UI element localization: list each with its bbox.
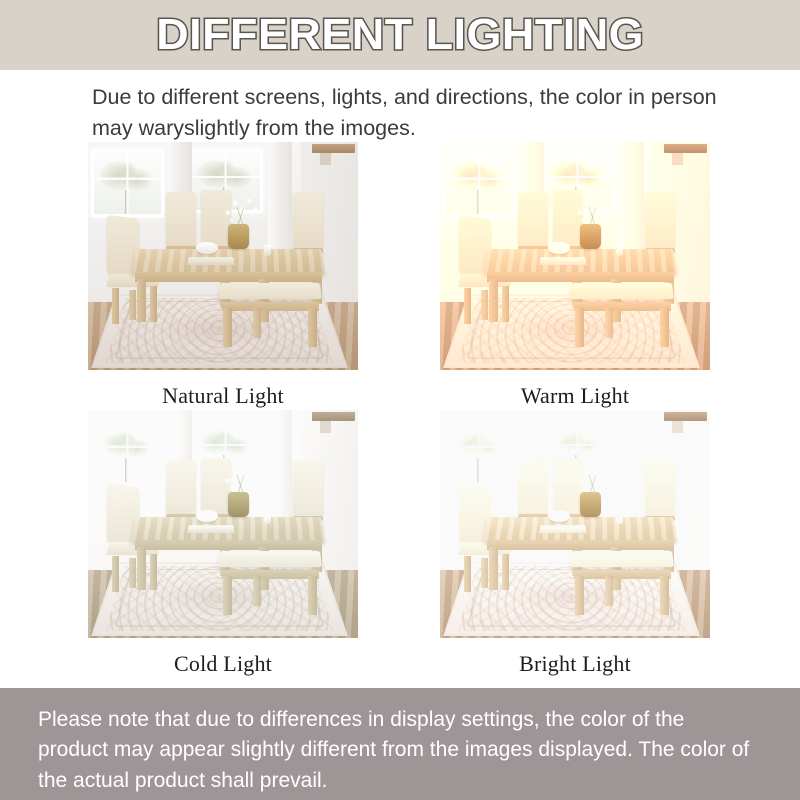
page-title: DIFFERENT LIGHTING [156,13,644,57]
header-band: DIFFERENT LIGHTING [0,0,800,70]
dining-bench-seat [218,551,322,567]
window-mullions [94,420,161,482]
wall-shelf [664,412,707,421]
plate-stack [548,510,570,521]
dining-bench-seat [218,283,322,299]
dining-bench-apron [574,570,671,579]
dining-room-scene [88,142,358,370]
window-left [443,149,516,217]
chair-leg [129,290,136,320]
drinking-glass [616,245,623,256]
window-left [91,149,164,217]
bench-leg [575,308,584,347]
plate-stack [196,242,218,253]
dining-room-scene [440,410,710,638]
dining-bench-seat [570,283,674,299]
product-photo-cold [88,410,358,638]
subtitle-text: Due to different screens, lights, and di… [92,82,722,143]
chair-leg [112,288,119,324]
vase [580,492,600,517]
product-photo-natural [88,142,358,370]
lighting-panel-warm: Warm Light [440,142,710,409]
plate-stack [196,510,218,521]
serving-board [187,525,234,533]
drinking-glass [616,513,623,524]
vase [580,224,600,249]
dining-bench-apron [222,302,319,311]
lighting-panel-bright: Bright Light [440,410,710,677]
panel-caption: Natural Light [88,370,358,409]
bench-leg [308,308,317,347]
window-mullions [94,152,161,214]
wall-shelf [312,412,355,421]
serving-board [539,525,586,533]
chair-leg [112,556,119,592]
disclaimer-banner: Please note that due to differences in d… [0,688,800,800]
bench-leg [575,576,584,615]
panel-caption: Warm Light [440,370,710,409]
bench-leg [308,576,317,615]
chair-leg [129,558,136,588]
bench-leg [253,308,262,338]
window-left [443,417,516,485]
dining-chair-back [166,460,196,515]
dining-chair-back [166,192,196,247]
dining-room-scene [88,410,358,638]
chair-leg [481,290,488,320]
panel-caption: Cold Light [88,638,358,677]
plate-stack [548,242,570,253]
lighting-panel-natural: Natural Light [88,142,358,409]
dining-chair-back [293,192,323,249]
bench-leg [660,576,669,615]
table-leg [489,547,499,590]
dining-table-apron [135,540,321,550]
product-photo-bright [440,410,710,638]
dining-chair-back [518,192,548,247]
panel-caption: Bright Light [440,638,710,677]
chair-leg [150,554,157,590]
lighting-panel-cold: Cold Light [88,410,358,677]
chair-leg [481,558,488,588]
dining-table-apron [487,272,673,282]
chair-leg [464,288,471,324]
dining-chair-back [293,460,323,517]
vase [228,224,248,249]
dining-bench-apron [222,570,319,579]
bench-leg [605,576,614,606]
chair-leg [502,286,509,322]
dining-chair-back [518,460,548,515]
window-mullions [446,152,513,214]
bench-leg [223,308,232,347]
dining-chair-back [645,460,675,517]
dining-chair-back [645,192,675,249]
chair-leg [464,556,471,592]
table-leg [137,547,147,590]
drinking-glass [264,513,271,524]
dining-bench-apron [574,302,671,311]
wall-shelf [312,144,355,153]
serving-board [187,257,234,265]
bench-leg [660,308,669,347]
disclaimer-text: Please note that due to differences in d… [0,688,800,796]
bench-leg [253,576,262,606]
bench-leg [223,576,232,615]
dining-bench-seat [570,551,674,567]
dining-room-scene [440,142,710,370]
window-left [91,417,164,485]
wall-shelf [664,144,707,153]
table-leg [137,279,147,322]
drinking-glass [264,245,271,256]
product-photo-warm [440,142,710,370]
bench-leg [605,308,614,338]
table-leg [489,279,499,322]
window-mullions [446,420,513,482]
serving-board [539,257,586,265]
dining-table-apron [135,272,321,282]
dining-table-apron [487,540,673,550]
chair-leg [150,286,157,322]
chair-leg [502,554,509,590]
lighting-comparison-grid: Natural Light [88,142,712,688]
infographic-page: DIFFERENT LIGHTING Due to different scre… [0,0,800,800]
vase [228,492,248,517]
